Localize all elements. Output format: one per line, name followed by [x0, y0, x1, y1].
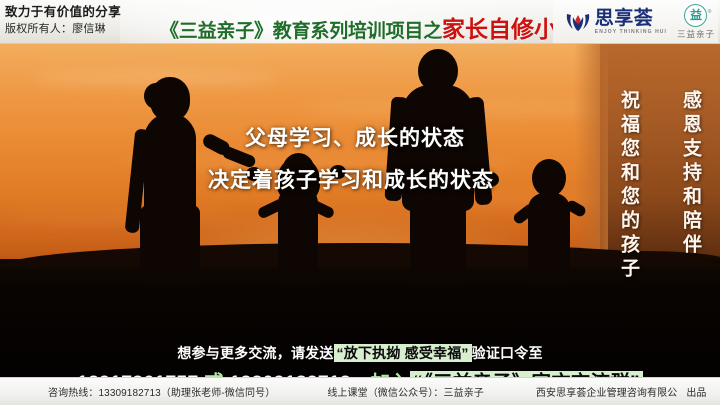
- header-copyright: 版权所有人：廖信琳: [5, 21, 155, 38]
- footer-hotline: 咨询热线：13309182713（助理张老师-微信同号）: [48, 384, 275, 399]
- mother-silhouette: [124, 77, 216, 281]
- cta-line-1: 想参与更多交流，请发送“放下执拗 感受幸福”验证口令至: [0, 342, 720, 364]
- son-silhouette: [516, 159, 588, 281]
- header-title: 《三益亲子》教育系列培训项目之家长自修小课堂: [160, 10, 603, 44]
- cta-group-highlight: “《三益亲子》官方交流群”: [410, 371, 643, 377]
- held-hands: [330, 165, 346, 179]
- footer-online-class: 线上课堂（微信公众号）：三益亲子: [327, 384, 484, 399]
- badge-char: 益: [684, 4, 707, 27]
- header-tagline: 致力于有价值的分享: [5, 3, 155, 21]
- father-silhouette: [386, 49, 490, 281]
- brand-name-en: ENJOY THINKING HUI: [595, 28, 667, 36]
- footer-company: 西安思享荟企业管理咨询有限公: [536, 384, 677, 399]
- sanyi-badge: 益 三益亲子: [677, 4, 715, 41]
- cta-or-word: 或: [204, 372, 224, 377]
- daughter-silhouette: [258, 153, 334, 281]
- held-hands: [246, 167, 262, 181]
- header-left-block: 致力于有价值的分享 版权所有人：廖信琳: [5, 3, 155, 38]
- vertical-blessing-left: 祝福您和您的孩子: [614, 90, 644, 282]
- photo-stage: 父母学习、成长的状态 决定着孩子学习和成长的状态 祝福您和您的孩子 感恩支持和陪…: [0, 44, 720, 377]
- cta-line1-before: 想参与更多交流，请发送: [177, 345, 333, 361]
- brand-text: 思享荟 ENJOY THINKING HUI: [595, 9, 667, 36]
- cta-password-highlight: “放下执拗 感受幸福”: [334, 344, 472, 362]
- vertical-blessing-right: 感恩支持和陪伴: [676, 90, 706, 258]
- brand-logo-group: 思享荟 ENJOY THINKING HUI 益 三益亲子: [553, 0, 718, 44]
- badge-label: 三益亲子: [677, 28, 715, 40]
- cta-phone-2[interactable]: 13309182713: [229, 372, 351, 377]
- cta-block: 想参与更多交流，请发送“放下执拗 感受幸福”验证口令至 13917361757 …: [0, 342, 720, 377]
- held-hands: [482, 172, 499, 187]
- brand-name-cn: 思享荟: [595, 9, 667, 28]
- slide-root: 致力于有价值的分享 版权所有人：廖信琳 《三益亲子》教育系列培训项目之家长自修小…: [0, 0, 720, 405]
- cta-join-word: ，加入: [351, 372, 410, 377]
- cta-phone-1[interactable]: 13917361757: [77, 372, 199, 377]
- footer-bar: 咨询热线：13309182713（助理张老师-微信同号） 线上课堂（微信公众号）…: [0, 377, 720, 405]
- sixiang-antler-icon: [563, 7, 593, 37]
- cta-line-2: 13917361757 或 13309182713，加入“《三益亲子》官方交流群…: [0, 368, 720, 377]
- header-bar: 致力于有价值的分享 版权所有人：廖信琳 《三益亲子》教育系列培训项目之家长自修小…: [0, 0, 720, 44]
- footer-produced-by: 出品: [686, 384, 706, 399]
- header-title-green: 《三益亲子》教育系列培训项目之: [160, 21, 442, 42]
- cta-line1-after: 验证口令至: [472, 345, 543, 361]
